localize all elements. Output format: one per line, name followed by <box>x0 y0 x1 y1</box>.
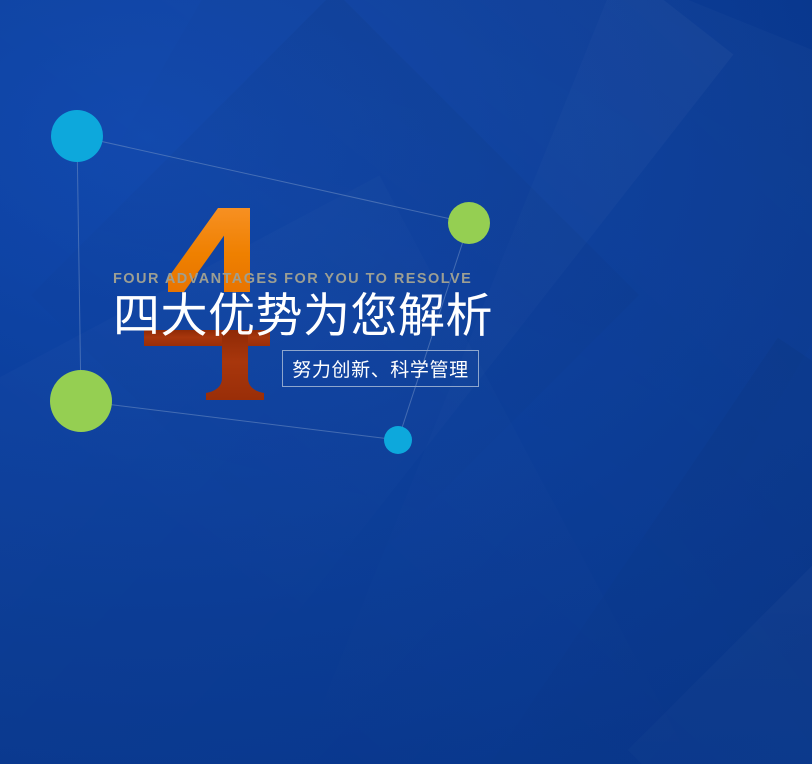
page-title: 四大优势为您解析 <box>113 290 673 344</box>
tagline-text: 努力创新、科学管理 <box>292 355 468 382</box>
node-green-right <box>448 202 490 244</box>
node-cyan-top-left <box>51 110 103 162</box>
node-green-bottom-left <box>50 370 112 432</box>
node-cyan-bottom <box>384 426 412 454</box>
edge-cyan-top-to-green-bottom <box>77 136 81 401</box>
eyebrow-text: FOUR ADVANTAGES FOR YOU TO RESOLVE <box>113 270 673 288</box>
hero-banner: FOUR ADVANTAGES FOR YOU TO RESOLVE 四大优势为… <box>0 0 812 764</box>
tagline-box: 努力创新、科学管理 <box>282 350 479 387</box>
edge-green-bottom-to-cyan-bot <box>81 401 398 440</box>
headline-block: FOUR ADVANTAGES FOR YOU TO RESOLVE 四大优势为… <box>113 270 673 344</box>
